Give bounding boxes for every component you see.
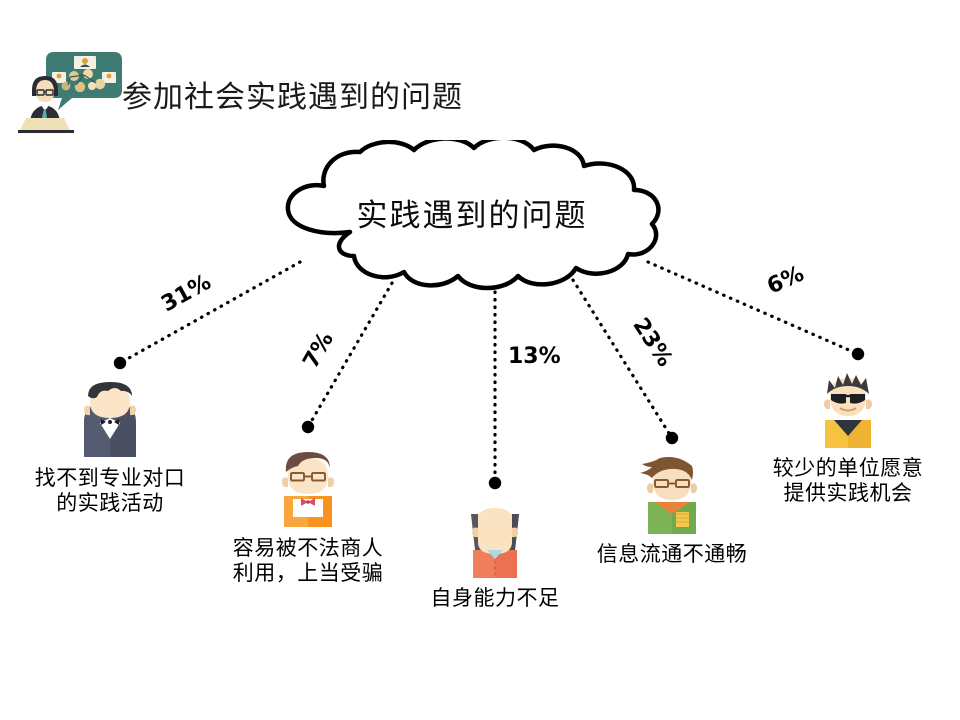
person-with-speech-bubble-icon (14, 46, 124, 138)
connector-dot-4 (666, 432, 678, 444)
cloud-shape (232, 140, 712, 300)
branch-label-5: 较少的单位愿意 提供实践机会 (738, 456, 958, 506)
connector-dot-5 (852, 348, 864, 360)
connector-dot-2 (302, 421, 314, 433)
percent-label-1: 31% (157, 270, 215, 317)
connector-dot-3 (489, 477, 501, 489)
branch-node-1[interactable]: 找不到专业对口 的实践活动 (0, 372, 220, 516)
percent-label-2: 7% (299, 328, 339, 373)
branch-node-5[interactable]: 较少的单位愿意 提供实践机会 (738, 362, 958, 506)
branch-label-4: 信息流通不通畅 (562, 542, 782, 567)
page-title: 参加社会实践遇到的问题 (122, 72, 463, 116)
percent-label-4: 23% (628, 314, 678, 372)
branch-label-3: 自身能力不足 (385, 586, 605, 611)
percent-label-3: 13% (508, 344, 561, 369)
percent-label-5: 6% (764, 261, 808, 299)
slide-header: 参加社会实践遇到的问题 (0, 0, 960, 150)
person-sunglasses-yellow-icon (738, 362, 958, 450)
slide-canvas: 参加社会实践遇到的问题 实践遇到的问题 31% 7% 13% 23% 6% (0, 0, 960, 720)
branch-label-1: 找不到专业对口 的实践活动 (0, 466, 220, 516)
connector-dot-1 (114, 357, 126, 369)
person-suit-bowtie-icon (0, 372, 220, 460)
